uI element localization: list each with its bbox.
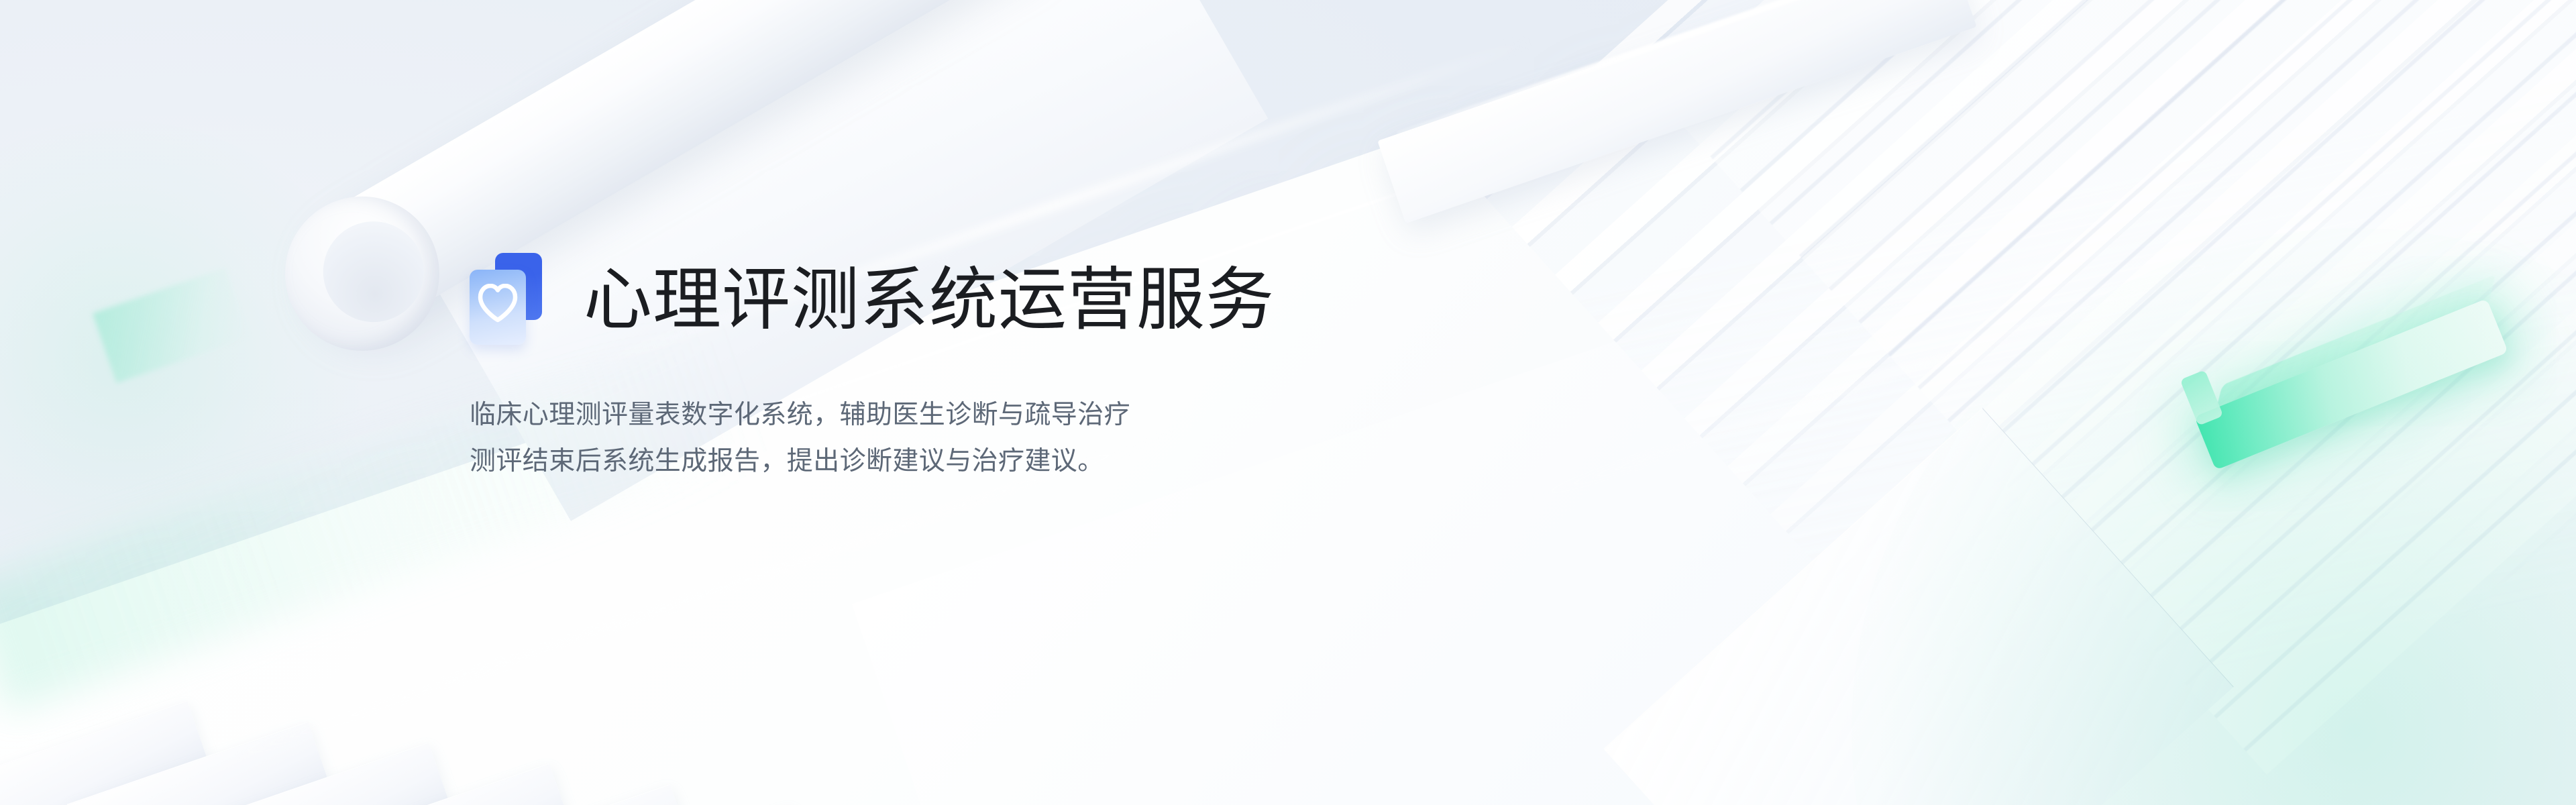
page-title: 心理评测系统运营服务	[584, 263, 1275, 337]
heart-cards-icon	[470, 253, 547, 347]
banner-content: 心理评测系统运营服务 临床心理测评量表数字化系统，辅助医生诊断与疏导治疗 测评结…	[470, 250, 1677, 485]
heart-icon	[478, 284, 518, 323]
title-row: 心理评测系统运营服务	[470, 250, 1677, 350]
subtitle-line-1: 临床心理测评量表数字化系统，辅助医生诊断与疏导治疗	[470, 392, 1677, 438]
banner-subtitle: 临床心理测评量表数字化系统，辅助医生诊断与疏导治疗 测评结束后系统生成报告，提出…	[470, 392, 1677, 485]
hero-banner: 心理评测系统运营服务 临床心理测评量表数字化系统，辅助医生诊断与疏导治疗 测评结…	[0, 0, 2576, 805]
subtitle-line-2: 测评结束后系统生成报告，提出诊断建议与治疗建议。	[470, 438, 1677, 484]
